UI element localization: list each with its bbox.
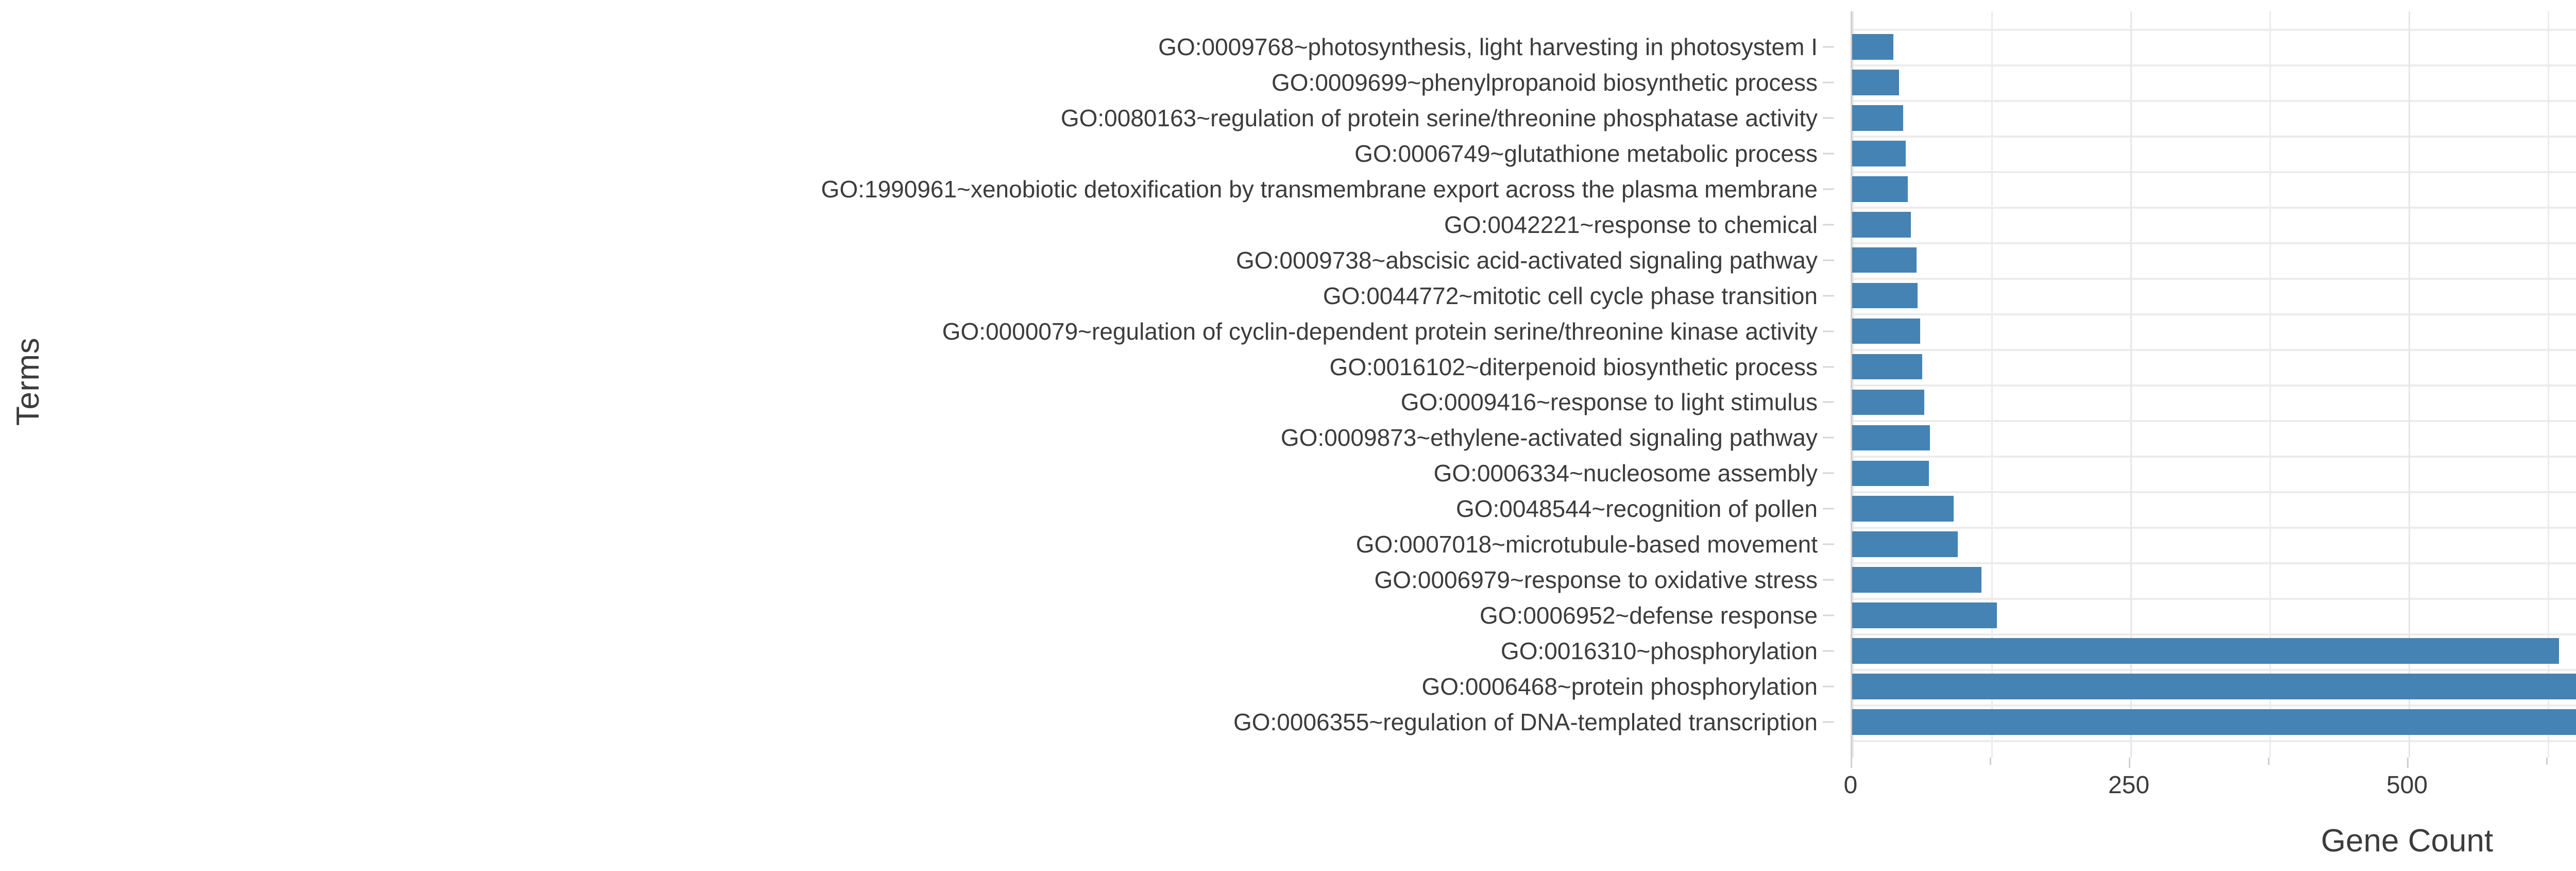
- bar[interactable]: [1852, 70, 1899, 95]
- y-tick-mark: [1823, 579, 1834, 581]
- bar-row[interactable]: [1852, 207, 1911, 242]
- bar[interactable]: [1852, 34, 1893, 60]
- y-tick-label: GO:1990961~xenobiotic detoxification by …: [821, 177, 1818, 201]
- y-tick-mark: [1823, 544, 1834, 545]
- horizontal-gridline: [1852, 29, 2576, 31]
- horizontal-gridline: [1852, 207, 2576, 209]
- horizontal-gridline: [1852, 384, 2576, 387]
- bar[interactable]: [1852, 176, 1908, 202]
- bar[interactable]: [1852, 212, 1911, 238]
- y-tick-label: GO:0009738~abscisic acid-activated signa…: [1236, 248, 1818, 272]
- bar-row[interactable]: [1852, 313, 1920, 349]
- bar[interactable]: [1852, 531, 1958, 557]
- y-tick-mark: [1823, 401, 1834, 403]
- y-tick-mark: [1823, 224, 1834, 225]
- y-tick-mark: [1823, 46, 1834, 47]
- bar-row[interactable]: [1852, 100, 1903, 136]
- y-tick-mark: [1823, 650, 1834, 652]
- go-enrichment-bar-chart: Terms GO:0009768~photosynthesis, light h…: [0, 0, 2576, 871]
- y-tick-label: GO:0009699~phenylpropanoid biosynthetic …: [1272, 71, 1818, 94]
- bar[interactable]: [1852, 674, 2576, 699]
- bar-row[interactable]: [1852, 705, 2576, 740]
- y-tick-label: GO:0006952~defense response: [1480, 604, 1818, 627]
- y-tick-label: GO:0016102~diterpenoid biosynthetic proc…: [1330, 355, 1818, 379]
- bar-row[interactable]: [1852, 633, 2559, 669]
- y-tick-label: GO:0009873~ethylene-activated signaling …: [1281, 426, 1818, 449]
- bar-row[interactable]: [1852, 491, 1954, 527]
- bar-row[interactable]: [1852, 64, 1899, 100]
- y-tick-label: GO:0080163~regulation of protein serine/…: [1061, 106, 1818, 130]
- y-tick-label: GO:0006334~nucleosome assembly: [1434, 461, 1818, 485]
- y-tick-label: GO:0048544~recognition of pollen: [1456, 497, 1818, 521]
- bar-row[interactable]: [1852, 598, 1997, 633]
- y-tick-label: GO:0016310~phosphorylation: [1501, 639, 1818, 663]
- y-tick-label: GO:0006979~response to oxidative stress: [1375, 568, 1818, 592]
- x-tick-mark: [2129, 758, 2130, 768]
- y-tick-label: GO:0000079~regulation of cyclin-dependen…: [942, 320, 1818, 343]
- horizontal-gridline: [1852, 527, 2576, 529]
- bar[interactable]: [1852, 105, 1903, 131]
- horizontal-gridline: [1852, 740, 2576, 742]
- bar-row[interactable]: [1852, 349, 1922, 384]
- y-tick-mark: [1823, 153, 1834, 154]
- x-tick-mark: [2546, 758, 2548, 765]
- horizontal-gridline: [1852, 100, 2576, 102]
- y-tick-mark: [1823, 686, 1834, 688]
- bar[interactable]: [1852, 354, 1922, 380]
- x-tick-mark: [1990, 758, 1991, 765]
- y-tick-mark: [1823, 615, 1834, 616]
- bar[interactable]: [1852, 496, 1954, 522]
- y-tick-mark: [1823, 473, 1834, 474]
- bar-row[interactable]: [1852, 384, 1924, 420]
- bar[interactable]: [1852, 461, 1929, 487]
- bar-row[interactable]: [1852, 420, 1930, 456]
- horizontal-gridline: [1852, 456, 2576, 458]
- bar-row[interactable]: [1852, 29, 1893, 64]
- bar-row[interactable]: [1852, 278, 1918, 313]
- y-tick-mark: [1823, 81, 1834, 83]
- y-tick-label: GO:0009768~photosynthesis, light harvest…: [1158, 35, 1818, 59]
- horizontal-gridline: [1852, 420, 2576, 422]
- bar[interactable]: [1852, 425, 1930, 451]
- y-tick-label: GO:0006355~regulation of DNA-templated t…: [1233, 710, 1818, 734]
- y-tick-mark: [1823, 366, 1834, 367]
- bar-row[interactable]: [1852, 171, 1908, 207]
- bar[interactable]: [1852, 602, 1997, 628]
- y-tick-mark: [1823, 259, 1834, 261]
- horizontal-gridline: [1852, 491, 2576, 493]
- x-tick-mark: [1851, 758, 1852, 768]
- x-tick-label: 0: [1844, 771, 1858, 799]
- horizontal-gridline: [1852, 136, 2576, 138]
- plot-area: [1851, 11, 2576, 758]
- horizontal-gridline: [1852, 242, 2576, 244]
- y-tick-mark: [1823, 295, 1834, 296]
- horizontal-gridline: [1852, 349, 2576, 351]
- bar[interactable]: [1852, 141, 1906, 166]
- x-axis-title: Gene Count: [1851, 823, 2576, 859]
- bar[interactable]: [1852, 390, 1924, 415]
- y-tick-label: GO:0042221~response to chemical: [1444, 213, 1818, 237]
- horizontal-gridline: [1852, 64, 2576, 66]
- bar[interactable]: [1852, 709, 2576, 735]
- bar-row[interactable]: [1852, 136, 1906, 171]
- y-axis-tick-labels: GO:0009768~photosynthesis, light harvest…: [0, 11, 1834, 758]
- x-tick-label: 250: [2108, 771, 2149, 799]
- bar-row[interactable]: [1852, 456, 1929, 491]
- y-tick-label: GO:0006749~glutathione metabolic process: [1354, 142, 1818, 165]
- bar[interactable]: [1852, 247, 1917, 273]
- y-tick-label: GO:0007018~microtubule-based movement: [1356, 532, 1818, 556]
- y-tick-mark: [1823, 508, 1834, 510]
- horizontal-gridline: [1852, 171, 2576, 173]
- x-tick-label: 500: [2386, 771, 2428, 799]
- bar[interactable]: [1852, 567, 1981, 593]
- bar[interactable]: [1852, 283, 1918, 309]
- x-tick-mark: [2407, 758, 2409, 768]
- bar-row[interactable]: [1852, 669, 2576, 705]
- y-tick-label: GO:0009416~response to light stimulus: [1401, 390, 1818, 414]
- bar-row[interactable]: [1852, 562, 1981, 598]
- bar[interactable]: [1852, 319, 1920, 344]
- y-tick-mark: [1823, 330, 1834, 332]
- bar-row[interactable]: [1852, 242, 1917, 278]
- y-tick-label: GO:0006468~protein phosphorylation: [1421, 675, 1818, 698]
- y-tick-mark: [1823, 188, 1834, 190]
- y-tick-mark: [1823, 117, 1834, 119]
- y-tick-label: GO:0044772~mitotic cell cycle phase tran…: [1323, 284, 1818, 308]
- bar-row[interactable]: [1852, 527, 1958, 562]
- y-tick-mark: [1823, 722, 1834, 723]
- horizontal-gridline: [1852, 278, 2576, 280]
- y-tick-mark: [1823, 437, 1834, 439]
- horizontal-gridline: [1852, 313, 2576, 315]
- x-tick-mark: [2268, 758, 2269, 765]
- bar[interactable]: [1852, 638, 2559, 664]
